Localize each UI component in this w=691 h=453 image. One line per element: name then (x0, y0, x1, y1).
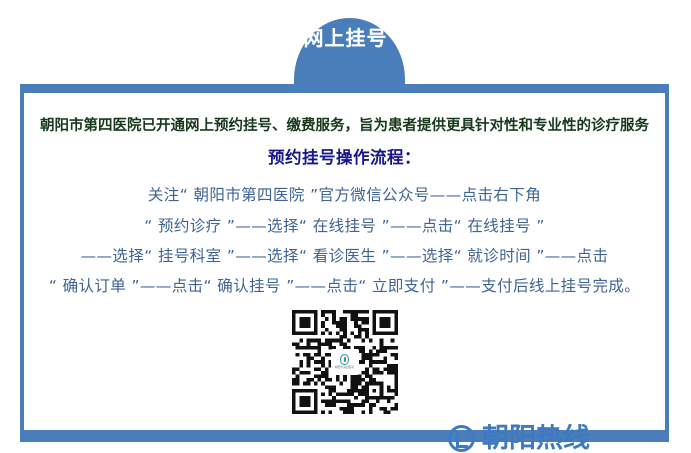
step-line: “ 确认订单 ”——点击“ 确认挂号 ”——点击“ 立即支付 ”——支付后线上挂… (24, 271, 665, 301)
steps-list: 关注“ 朝阳市第四医院 ”官方微信公众号——点击右下角 “ 预约诊疗 ”——选择… (24, 180, 665, 301)
step-line: “ 预约诊疗 ”——选择“ 在线挂号 ”——点击“ 在线挂号 ” (24, 211, 665, 241)
watermark-logo-icon (448, 425, 475, 452)
section-subtitle: 预约挂号操作流程： (24, 147, 665, 168)
step-line: 关注“ 朝阳市第四医院 ”官方微信公众号——点击右下角 (24, 180, 665, 210)
content-frame: 朝阳市第四医院已开通网上预约挂号、缴费服务，旨为患者提供更具针对性和专业性的诊疗… (20, 84, 669, 442)
watermark-label: 朝阳热线 (482, 425, 590, 452)
qr-code[interactable]: 朝阳市第四医院 (292, 310, 398, 414)
content-frame-inner: 朝阳市第四医院已开通网上预约挂号、缴费服务，旨为患者提供更具针对性和专业性的诊疗… (24, 93, 665, 430)
qr-center-logo-label: 朝阳市第四医院 (335, 367, 355, 370)
headline: 朝阳市第四医院已开通网上预约挂号、缴费服务，旨为患者提供更具针对性和专业性的诊疗… (24, 117, 665, 136)
qr-center-logo: 朝阳市第四医院 (331, 349, 359, 375)
step-line: ——选择“ 挂号科室 ”——选择“ 看诊医生 ”——选择“ 就诊时间 ”——点击 (24, 241, 665, 271)
watermark: 朝阳热线 (448, 424, 590, 453)
banner-title: 网上挂号 (0, 28, 691, 48)
hospital-logo-icon (340, 354, 349, 365)
text-block: 朝阳市第四医院已开通网上预约挂号、缴费服务，旨为患者提供更具针对性和专业性的诊疗… (24, 117, 665, 301)
